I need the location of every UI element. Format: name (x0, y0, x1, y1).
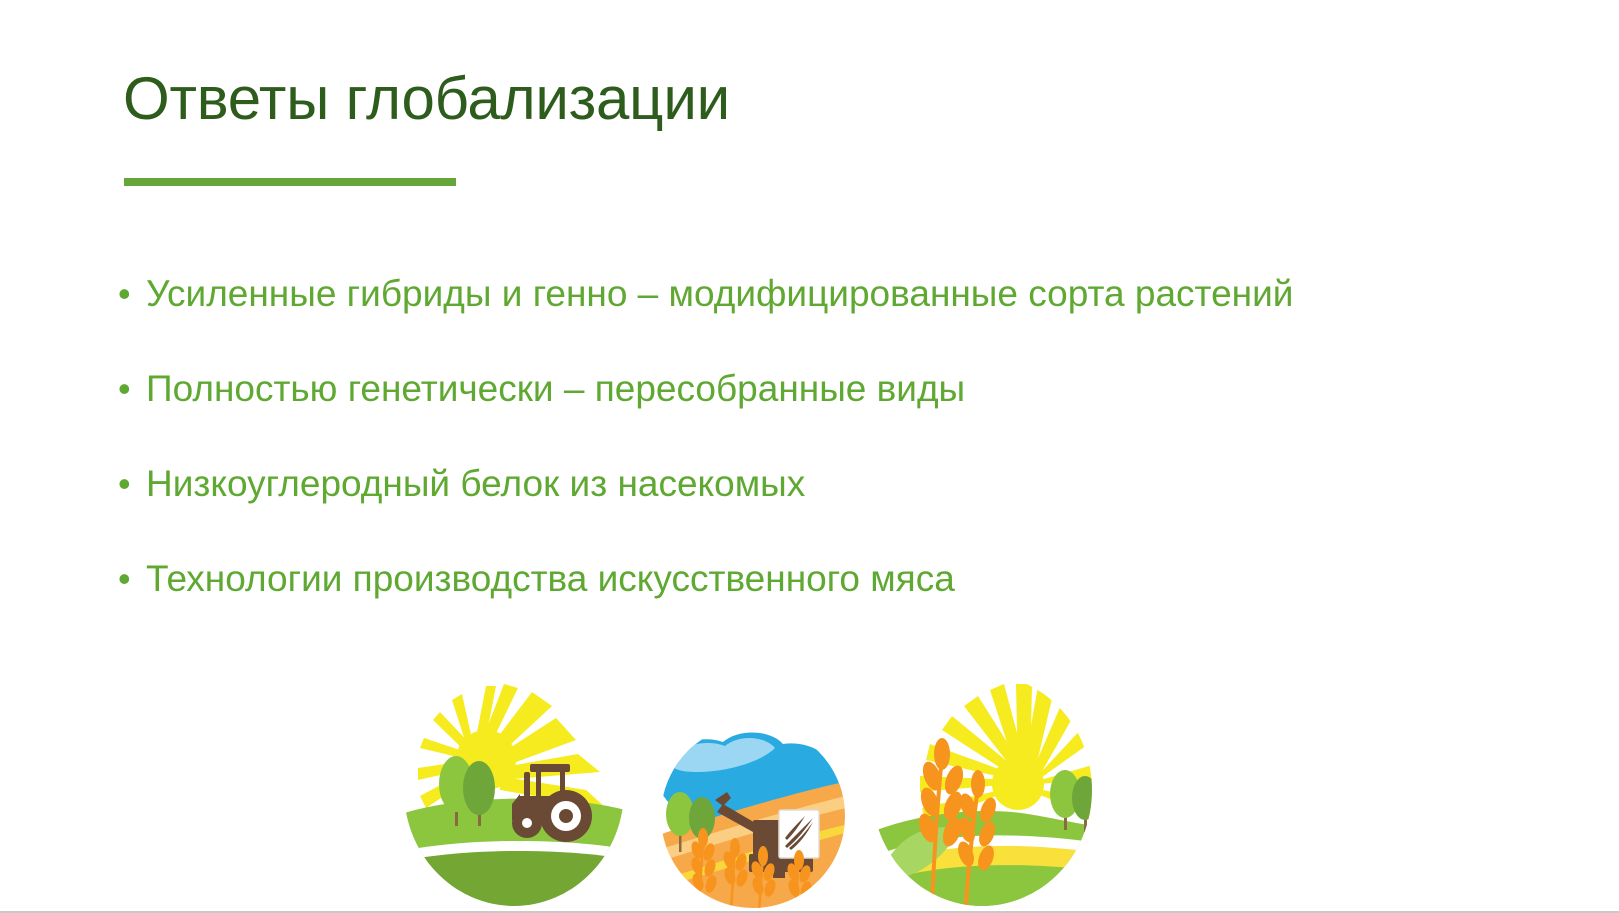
tractor-field-sun-illustration (400, 668, 628, 906)
list-item-label: Технологии производства искусственного м… (146, 553, 1538, 605)
illustration-row (0, 650, 1619, 913)
slide-canvas: Ответы глобализации • Усиленные гибриды … (0, 0, 1619, 913)
list-item: • Усиленные гибриды и генно – модифициро… (118, 268, 1538, 363)
list-item-label: Низкоуглеродный белок из насекомых (146, 458, 1538, 510)
bullet-marker-icon: • (118, 363, 146, 415)
list-item: • Низкоуглеродный белок из насекомых (118, 458, 1538, 553)
bullet-marker-icon: • (118, 458, 146, 510)
bullet-marker-icon: • (118, 268, 146, 320)
list-item-label: Полностью генетически – пересобранные ви… (146, 363, 1538, 415)
list-item: • Полностью генетически – пересобранные … (118, 363, 1538, 458)
title-accent-bar (124, 178, 456, 186)
list-item: • Технологии производства искусственного… (118, 553, 1538, 648)
harvester-wheat-sky-illustration (653, 728, 853, 908)
page-title: Ответы глобализации (123, 64, 730, 134)
list-item-label: Усиленные гибриды и генно – модифицирова… (146, 268, 1538, 320)
wheat-sun-hills-illustration (868, 668, 1096, 906)
bullet-list: • Усиленные гибриды и генно – модифициро… (118, 268, 1538, 648)
bullet-marker-icon: • (118, 553, 146, 605)
